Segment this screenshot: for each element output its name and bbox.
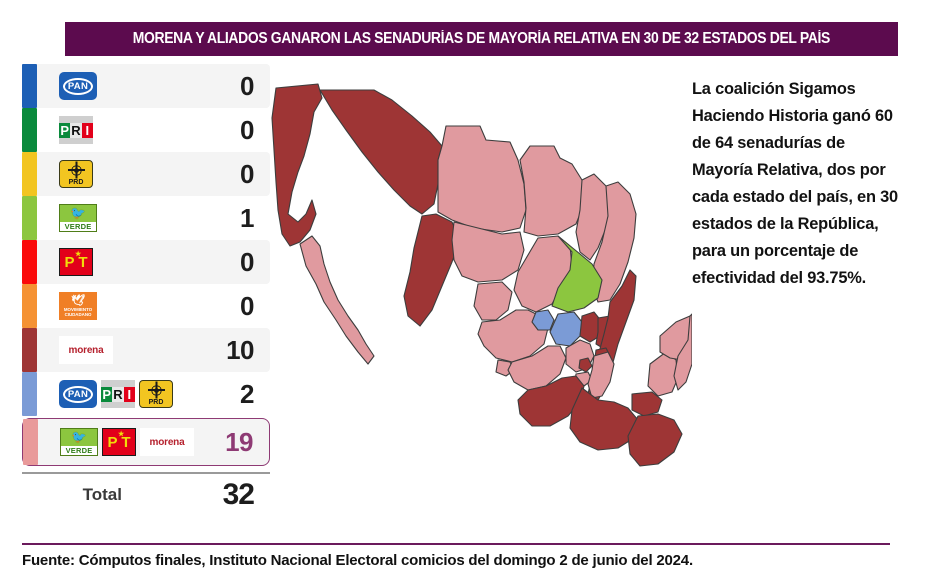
table-row-mc[interactable]: 🕊MOVIMIENTOCIUDADANO0 [22, 284, 270, 328]
state-sinaloa[interactable] [404, 214, 460, 326]
pri-logo-icon: PRI [59, 116, 93, 144]
state-chihuahua[interactable] [438, 126, 526, 232]
source-note: Fuente: Cómputos finales, Instituto Naci… [22, 552, 693, 569]
prd-sun-icon [149, 383, 164, 398]
eagle-wing-icon: 🕊 [71, 296, 85, 307]
table-row-coalicion-fmx[interactable]: PANPRIPRD2 [22, 372, 270, 416]
party-color-bar [22, 240, 37, 284]
star-icon: ★ [118, 430, 124, 438]
party-logo-group: PRI [37, 116, 240, 144]
infographic-root: MORENA Y ALIADOS GANARON LAS SENADURÍAS … [0, 0, 927, 583]
mc-logo-icon: 🕊MOVIMIENTOCIUDADANO [59, 292, 97, 320]
table-row-morena[interactable]: morena10 [22, 328, 270, 372]
pri-logo-letter: I [124, 387, 135, 402]
state-guanajuato[interactable] [550, 312, 582, 346]
verde-logo-icon: 🐦VERDE [60, 428, 98, 456]
state-baja-california[interactable] [272, 84, 322, 246]
morena-logo-text: morena [150, 437, 185, 448]
party-logo-group: morena [37, 336, 226, 364]
morena-logo-text: morena [69, 345, 104, 356]
state-aguascalientes[interactable] [532, 310, 554, 330]
star-icon: ★ [75, 250, 81, 258]
prd-logo-text: PRD [149, 399, 164, 406]
pan-logo-text: PAN [63, 78, 93, 95]
party-color-bar [22, 372, 37, 416]
state-oaxaca[interactable] [570, 388, 638, 450]
table-row-verde[interactable]: 🐦VERDE1 [22, 196, 270, 240]
state-sonora[interactable] [320, 90, 442, 214]
prd-sun-icon [69, 163, 84, 178]
footer-divider [22, 543, 890, 545]
verde-logo-icon: 🐦VERDE [59, 204, 97, 232]
header-banner: MORENA Y ALIADOS GANARON LAS SENADURÍAS … [65, 22, 898, 56]
toucan-icon: 🐦 [72, 431, 87, 443]
table-row-total: Total32 [22, 474, 270, 516]
party-logo-group: PAN [37, 72, 240, 100]
table-row-pan[interactable]: PAN0 [22, 64, 270, 108]
party-color-bar [22, 108, 37, 152]
pri-logo-letter: P [101, 387, 112, 402]
pan-logo-icon: PAN [59, 380, 97, 408]
total-value: 32 [223, 478, 254, 512]
verde-logo-text: VERDE [60, 222, 96, 231]
party-color-bar [22, 196, 37, 240]
table-row-prd[interactable]: PRD0 [22, 152, 270, 196]
table-row-pri[interactable]: PRI0 [22, 108, 270, 152]
pri-logo-letter: R [70, 123, 81, 138]
summary-text: La coalición Sigamos Haciendo Historia g… [692, 76, 908, 292]
pri-logo-letter: I [82, 123, 93, 138]
party-color-bar [22, 64, 37, 108]
map-svg [262, 64, 692, 524]
party-color-bar [22, 328, 37, 372]
party-logo-group: ★P T [37, 248, 240, 276]
pri-logo-letter: R [112, 387, 123, 402]
party-logo-group: PANPRIPRD [37, 380, 240, 408]
pri-logo-letter: P [59, 123, 70, 138]
pri-logo-icon: PRI [101, 380, 135, 408]
party-color-bar [22, 152, 37, 196]
mc-logo-text: CIUDADANO [65, 312, 92, 317]
party-logo-group: 🕊MOVIMIENTOCIUDADANO [37, 292, 240, 320]
results-table: PAN0PRI0PRD0🐦VERDE1★P T0🕊MOVIMIENTOCIUDA… [22, 64, 270, 516]
mexico-map [262, 64, 692, 524]
party-logo-group: 🐦VERDE [37, 204, 240, 232]
total-label: Total [22, 485, 223, 505]
verde-logo-text: VERDE [61, 446, 97, 455]
page-title: MORENA Y ALIADOS GANARON LAS SENADURÍAS … [133, 30, 830, 48]
party-color-bar [23, 419, 38, 465]
prd-logo-icon: PRD [139, 380, 173, 408]
pan-logo-icon: PAN [59, 72, 97, 100]
state-coahuila[interactable] [520, 146, 584, 236]
party-logo-group: 🐦VERDE★P Tmorena [38, 428, 225, 456]
pan-logo-text: PAN [63, 386, 93, 403]
pt-logo-icon: ★P T [102, 428, 136, 456]
party-logo-group: PRD [37, 160, 240, 188]
prd-logo-text: PRD [69, 179, 84, 186]
state-baja-california-sur[interactable] [300, 236, 374, 364]
state-durango[interactable] [452, 222, 524, 282]
pt-logo-icon: ★P T [59, 248, 93, 276]
morena-logo-icon: morena [59, 336, 113, 364]
morena-logo-icon: morena [140, 428, 194, 456]
table-row-coalicion-shh[interactable]: 🐦VERDE★P Tmorena19 [22, 418, 270, 466]
prd-logo-icon: PRD [59, 160, 93, 188]
toucan-icon: 🐦 [71, 207, 86, 219]
state-chiapas[interactable] [628, 414, 682, 466]
party-color-bar [22, 284, 37, 328]
table-row-pt[interactable]: ★P T0 [22, 240, 270, 284]
state-nayarit[interactable] [474, 282, 512, 320]
